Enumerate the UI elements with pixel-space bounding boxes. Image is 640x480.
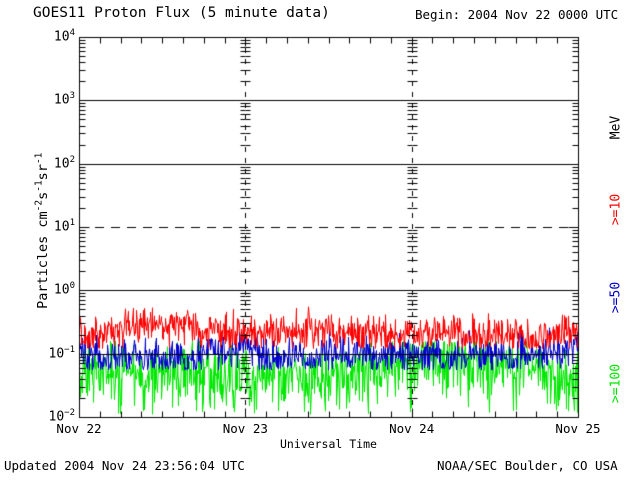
legend-entry-ge100: >=100 — [609, 314, 624, 454]
x-tick-label: Nov 22 — [29, 421, 129, 436]
x-axis-tick-labels: Nov 22Nov 23Nov 24Nov 25 — [0, 0, 640, 480]
x-axis-title: Universal Time — [280, 437, 377, 451]
screenshot-root: GOES11 Proton Flux (5 minute data) Begin… — [0, 0, 640, 480]
legend: MeV>=10>=50>=100 — [592, 80, 636, 410]
x-tick-label: Nov 23 — [195, 421, 295, 436]
agency-credit: NOAA/SEC Boulder, CO USA — [437, 458, 618, 473]
updated-timestamp: Updated 2004 Nov 24 23:56:04 UTC — [4, 458, 245, 473]
x-tick-label: Nov 24 — [362, 421, 462, 436]
